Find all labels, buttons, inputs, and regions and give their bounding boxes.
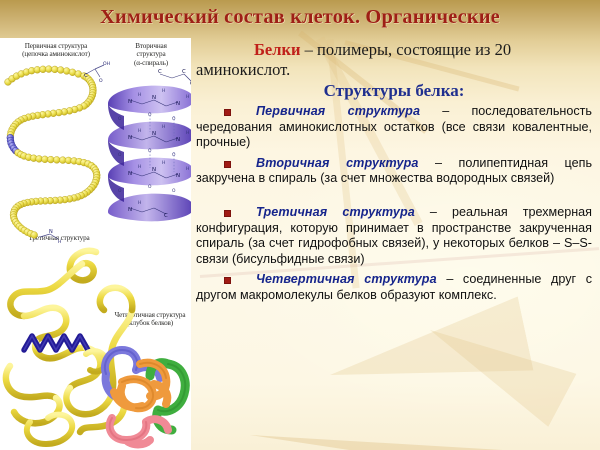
svg-text:H: H bbox=[162, 124, 165, 130]
primary-structure-illustration: C OH O N H bbox=[0, 56, 115, 246]
term-primary-structure: Первичная структура bbox=[256, 104, 420, 118]
svg-text:N: N bbox=[128, 99, 132, 105]
slide-title: Химический состав клеток. Органические bbox=[0, 6, 600, 29]
svg-text:N: N bbox=[152, 131, 156, 137]
slide-canvas: Химический состав клеток. Органические П… bbox=[0, 0, 600, 450]
background-ray-7 bbox=[321, 289, 535, 419]
svg-text:H: H bbox=[138, 164, 141, 170]
structures-heading: Структуры белка: bbox=[196, 80, 592, 101]
svg-text:N: N bbox=[128, 171, 132, 177]
lead-term: Белки bbox=[254, 40, 301, 59]
svg-text:C: C bbox=[164, 213, 168, 219]
svg-text:O: O bbox=[172, 188, 176, 194]
caption-secondary-line2: структура bbox=[137, 50, 166, 58]
bullet-square-icon bbox=[224, 161, 231, 168]
secondary-structure-illustration: CCC NNN NNN NNN NC HHH HHH HHH H OO OO O… bbox=[104, 60, 191, 235]
svg-text:H: H bbox=[162, 88, 165, 94]
svg-text:H: H bbox=[186, 94, 189, 100]
svg-text:C: C bbox=[182, 69, 186, 75]
svg-text:C: C bbox=[190, 81, 191, 87]
bullet-square-icon bbox=[224, 277, 231, 284]
lead-paragraph: Белки – полимеры, состоящие из 20 аминок… bbox=[196, 40, 592, 79]
svg-text:O: O bbox=[118, 116, 122, 122]
bullet-item-primary: Первичная структура – последовательность… bbox=[196, 104, 592, 151]
svg-text:N: N bbox=[176, 137, 180, 143]
svg-text:N: N bbox=[49, 229, 53, 235]
body-text-column: Белки – полимеры, состоящие из 20 аминок… bbox=[196, 40, 592, 309]
bullet-square-icon bbox=[224, 210, 231, 217]
quaternary-structure-illustration bbox=[96, 334, 191, 449]
svg-text:H: H bbox=[138, 92, 141, 98]
term-secondary-structure: Вторичная структура bbox=[256, 156, 419, 170]
svg-text:O: O bbox=[118, 188, 122, 194]
svg-text:N: N bbox=[176, 101, 180, 107]
lead-rest: – полимеры, состоящие из 20 аминокислот. bbox=[196, 40, 511, 79]
svg-text:O: O bbox=[99, 78, 103, 84]
bullet-item-quaternary: Четвертичная структура – соединенные дру… bbox=[196, 272, 592, 303]
svg-text:H: H bbox=[186, 130, 189, 136]
bullet-square-icon bbox=[224, 109, 231, 116]
svg-text:N: N bbox=[176, 173, 180, 179]
term-quaternary-structure: Четвертичная структура bbox=[256, 272, 437, 286]
svg-text:H: H bbox=[138, 200, 141, 206]
background-ray-8 bbox=[248, 420, 579, 450]
svg-text:N: N bbox=[128, 135, 132, 141]
svg-text:H: H bbox=[186, 166, 189, 172]
background-ray-6 bbox=[416, 304, 577, 427]
caption-primary-line1: Первичная структура bbox=[25, 42, 87, 50]
svg-text:N: N bbox=[152, 167, 156, 173]
svg-text:H: H bbox=[138, 128, 141, 134]
caption-secondary-line1: Вторичная bbox=[135, 42, 166, 50]
svg-text:C: C bbox=[158, 69, 162, 75]
svg-text:O: O bbox=[148, 184, 152, 190]
term-tertiary-structure: Третичная структура bbox=[256, 205, 415, 219]
bullet-item-secondary: Вторичная структура – полипептидная цепь… bbox=[196, 156, 592, 187]
svg-text:N: N bbox=[128, 207, 132, 213]
bullet-item-tertiary: Третичная структура – реальная трехмерна… bbox=[196, 205, 592, 267]
spacer bbox=[196, 192, 592, 205]
svg-text:N: N bbox=[152, 95, 156, 101]
svg-text:C: C bbox=[84, 73, 88, 79]
illustration-panel: Первичная структура (цепочка аминокислот… bbox=[0, 38, 191, 450]
svg-text:H: H bbox=[58, 239, 61, 245]
svg-text:H: H bbox=[162, 160, 165, 166]
svg-text:O: O bbox=[118, 152, 122, 158]
